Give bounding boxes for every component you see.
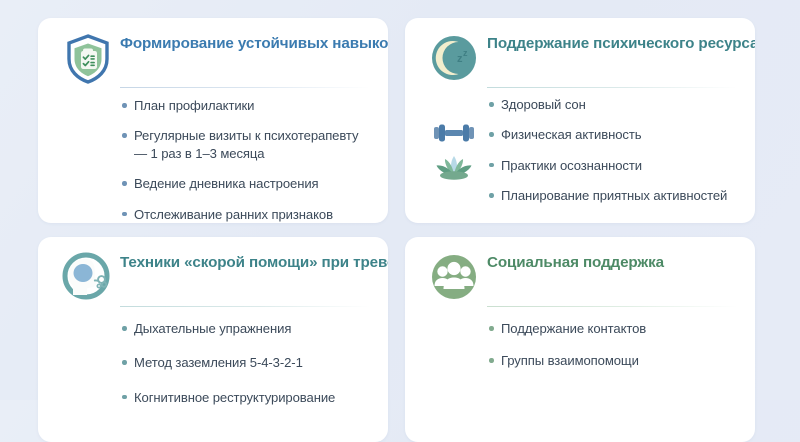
list-item-label: Практики осознанности	[501, 158, 642, 173]
list-item-label: Планирование приятных активностей	[501, 188, 727, 203]
list-item: Планирование приятных активностей	[423, 187, 737, 204]
bullet-icon	[489, 326, 494, 331]
bullet-icon	[489, 102, 494, 107]
bullet-icon	[122, 212, 127, 217]
list-item: Отслеживание ранних признаков ухудшения	[56, 206, 370, 223]
card-header: Техники «скорой помощи» при тревоге	[56, 253, 370, 297]
head-breathing-icon	[61, 251, 115, 305]
list-item: Метод заземления 5-4-3-2-1	[56, 354, 370, 371]
list-item-label: Ведение дневника настроения	[134, 176, 319, 191]
lotus-icon	[431, 151, 477, 181]
bullet-icon	[122, 133, 127, 138]
list-item-label: Здоровый сон	[501, 97, 586, 112]
list-item-label: Регулярные визиты к психотерапевту — 1 р…	[134, 128, 358, 160]
card-emergency-techniques: Техники «скорой помощи» при тревоге Дыха…	[38, 237, 388, 442]
people-group-icon	[428, 251, 482, 305]
card-header: z z Поддержание психического ресурса	[423, 34, 737, 78]
dumbbell-icon	[431, 120, 477, 150]
card-item-list: Здоровый сон	[423, 88, 737, 205]
bullet-icon	[489, 358, 494, 363]
list-item-label: Поддержание контактов	[501, 321, 646, 336]
list-item: Когнитивное реструктурирование	[56, 389, 370, 406]
card-mental-resource: z z Поддержание психического ресурса Здо…	[405, 18, 755, 223]
card-skills: Формирование устойчивых навыков План про…	[38, 18, 388, 223]
bullet-icon	[489, 193, 494, 198]
list-item: Физическая активность	[423, 126, 737, 143]
list-item-label: Физическая активность	[501, 127, 641, 142]
card-item-list: Дыхательные упражнения Метод заземления …	[56, 307, 370, 406]
bullet-icon	[122, 360, 127, 365]
list-item-label: Группы взаимопомощи	[501, 353, 639, 368]
list-item-label: Отслеживание ранних признаков ухудшения	[134, 207, 333, 223]
bullet-icon	[489, 163, 494, 168]
bullet-icon	[122, 103, 127, 108]
svg-text:z: z	[463, 48, 468, 58]
list-item: Практики осознанности	[423, 157, 737, 174]
list-item: Группы взаимопомощи	[423, 352, 737, 369]
infographic-page: Формирование устойчивых навыков План про…	[0, 0, 800, 400]
bullet-icon	[122, 326, 127, 331]
list-item-label: Метод заземления 5-4-3-2-1	[134, 355, 303, 370]
bullet-icon	[122, 181, 127, 186]
list-item: Дыхательные упражнения	[56, 320, 370, 337]
shield-checklist-icon	[61, 32, 115, 86]
bullet-icon	[122, 395, 127, 400]
list-item: План профилактики	[56, 97, 370, 114]
bullet-icon	[489, 132, 494, 137]
card-item-list: Поддержание контактов Группы взаимопомощ…	[423, 307, 737, 370]
card-item-list: План профилактики Регулярные визиты к пс…	[56, 88, 370, 223]
card-header: Социальная поддержка	[423, 253, 737, 297]
list-item: Ведение дневника настроения	[56, 175, 370, 192]
list-item-label: Когнитивное реструктурирование	[134, 390, 335, 405]
list-item-label: План профилактики	[134, 98, 254, 113]
card-grid: Формирование устойчивых навыков План про…	[38, 18, 755, 442]
list-item: Поддержание контактов	[423, 320, 737, 337]
list-item-label: Дыхательные упражнения	[134, 321, 291, 336]
moon-sleep-icon: z z	[428, 32, 482, 86]
list-item: Регулярные визиты к психотерапевту — 1 р…	[56, 127, 370, 162]
card-social-support: Социальная поддержка Поддержание контакт…	[405, 237, 755, 442]
list-item: Здоровый сон	[423, 96, 737, 113]
card-header: Формирование устойчивых навыков	[56, 34, 370, 78]
